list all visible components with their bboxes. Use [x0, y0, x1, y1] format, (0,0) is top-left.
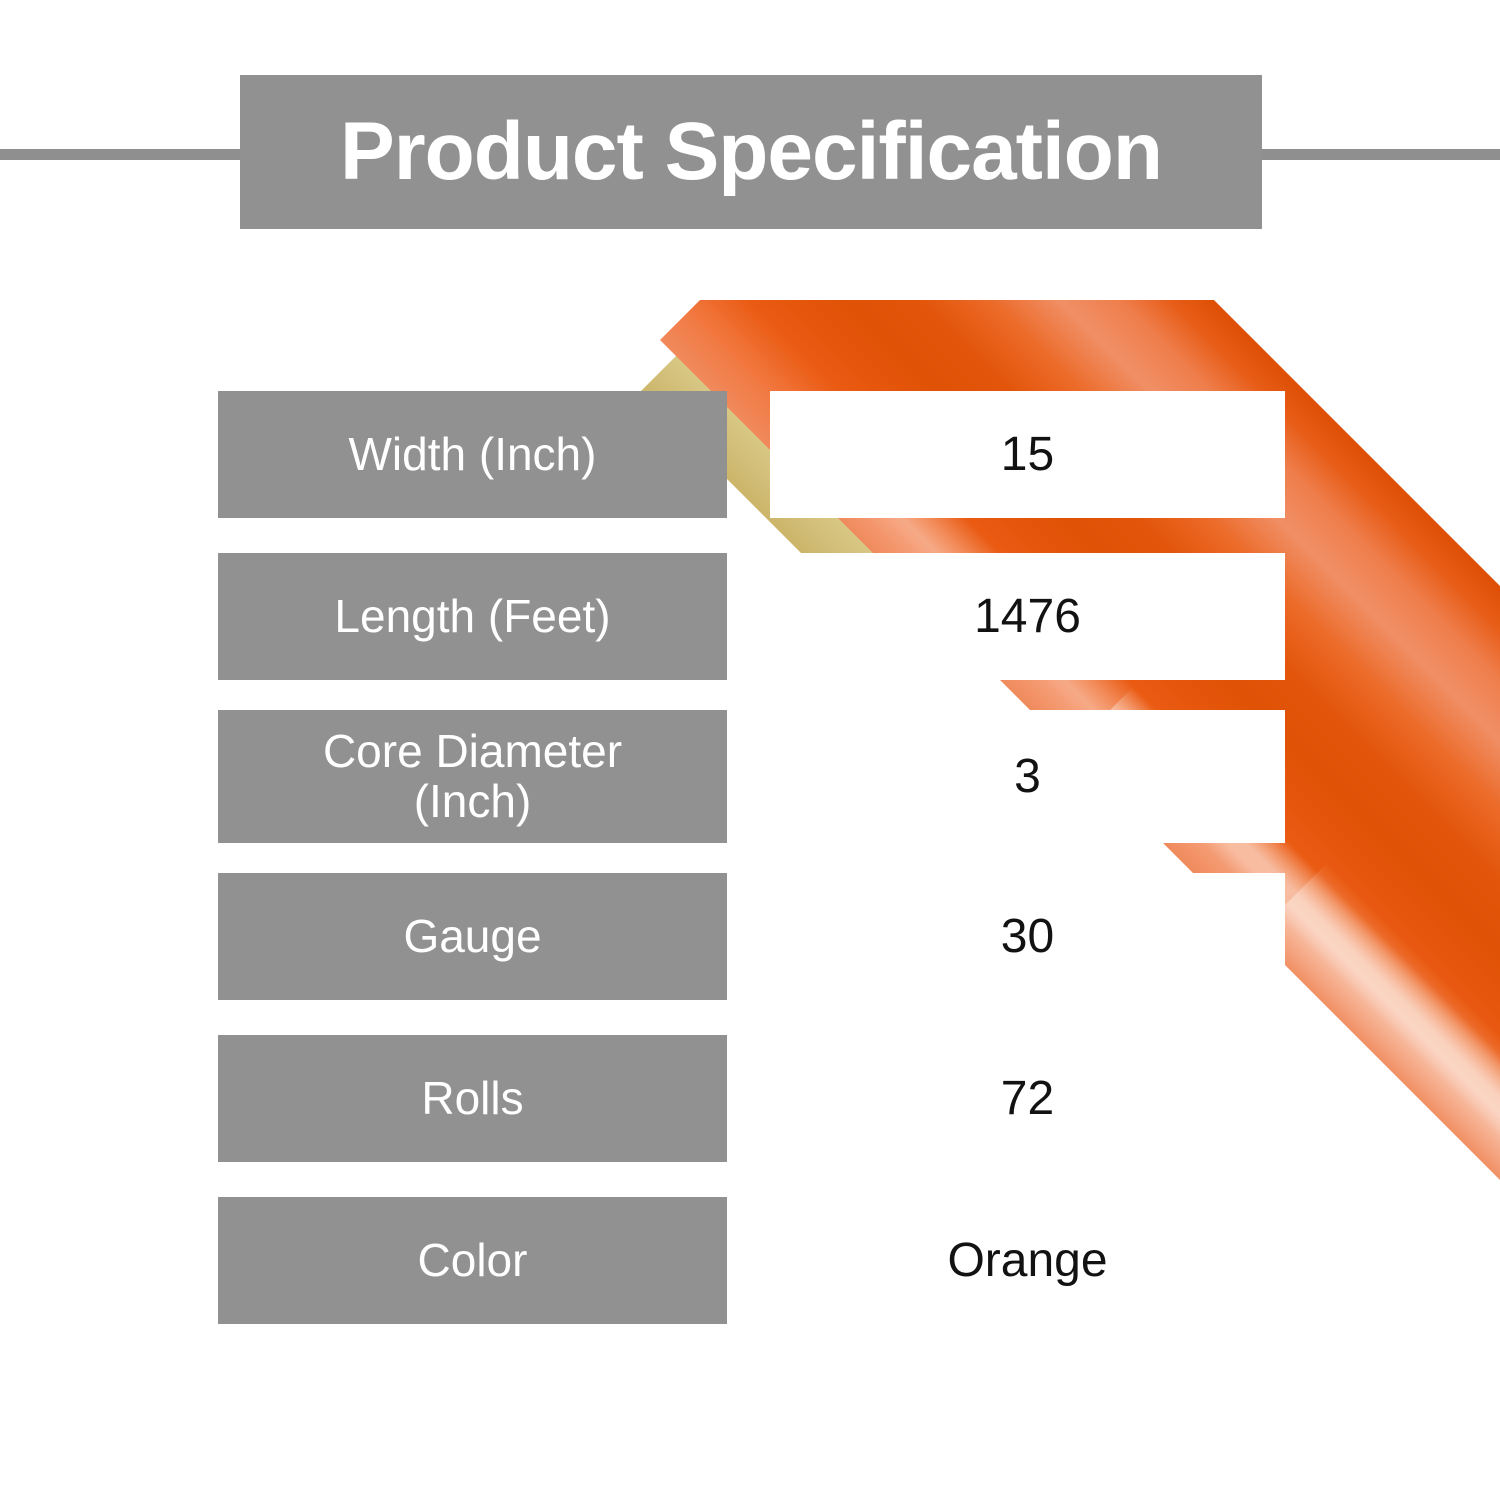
specification-table: Width (Inch)15Length (Feet)1476Core Diam…	[0, 0, 1500, 1500]
spec-value-cell: 15	[770, 391, 1285, 518]
spec-label-cell: Rolls	[218, 1035, 727, 1162]
product-spec-page: Product Specification Width (Inch)15Leng…	[0, 0, 1500, 1500]
spec-label-cell: Width (Inch)	[218, 391, 727, 518]
spec-label-cell: Core Diameter (Inch)	[218, 710, 727, 843]
spec-label-cell: Color	[218, 1197, 727, 1324]
spec-value-cell: 3	[770, 710, 1285, 843]
spec-value-cell: 30	[770, 873, 1285, 1000]
spec-value-cell: Orange	[770, 1197, 1285, 1324]
spec-value-cell: 72	[770, 1035, 1285, 1162]
spec-label-cell: Length (Feet)	[218, 553, 727, 680]
spec-value-cell: 1476	[770, 553, 1285, 680]
spec-label-cell: Gauge	[218, 873, 727, 1000]
